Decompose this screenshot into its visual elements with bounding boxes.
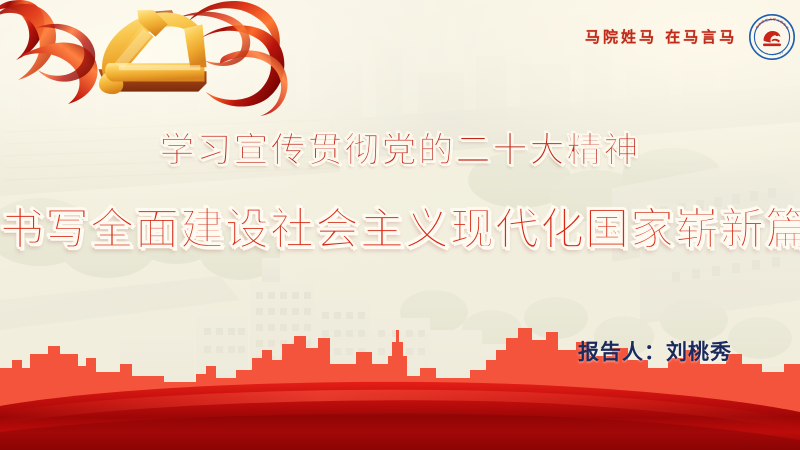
presentation-slide: 马院姓马 在马言马 华 中 师 范 大 学 马 院 bbox=[0, 0, 800, 450]
university-seal-icon: 华 中 师 范 大 学 马 院 标 志 S c h o o l · M bbox=[748, 13, 796, 61]
title-line-2: 书写全面建设社会主义现代化国家崭新篇章 bbox=[0, 193, 800, 257]
title-line-1: 学习宣传贯彻党的二十大精神 bbox=[0, 122, 800, 173]
presenter-label: 报告人：刘桃秀 bbox=[578, 336, 732, 366]
svg-text:学: 学 bbox=[773, 17, 776, 22]
party-emblem-decoration bbox=[0, 0, 292, 126]
header-slogan: 马院姓马 在马言马 bbox=[585, 26, 737, 47]
